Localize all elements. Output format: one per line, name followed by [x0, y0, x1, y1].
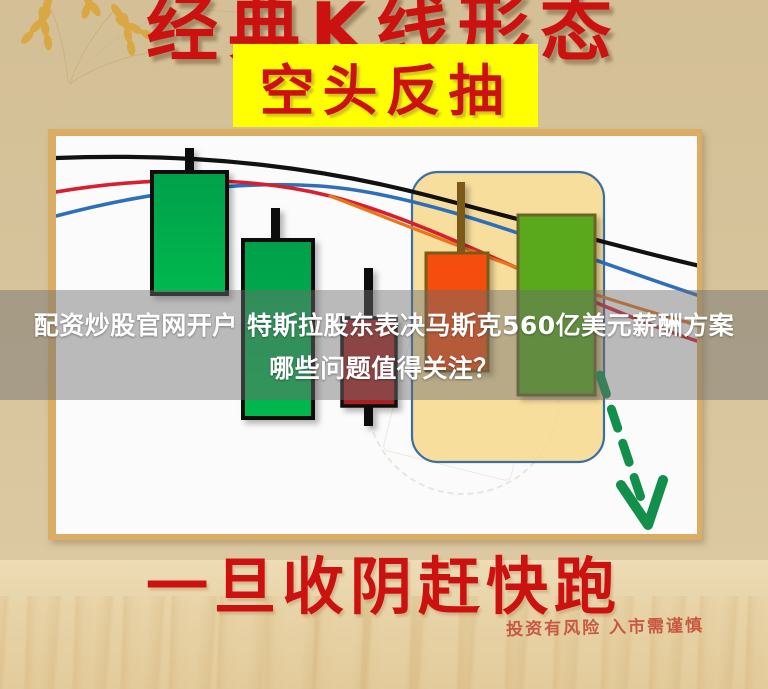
overlay-caption-line2: 哪些问题值得关注？	[269, 347, 499, 390]
overlay-caption: 配资炒股官网开户 特斯拉股东表决马斯克560亿美元薪酬方案 哪些问题值得关注？	[0, 294, 768, 400]
poster-root: 经典K线形态 空头反抽	[0, 0, 768, 689]
overlay-caption-line1: 配资炒股官网开户 特斯拉股东表决马斯克560亿美元薪酬方案	[34, 304, 734, 347]
candle-1	[152, 148, 227, 294]
risk-disclaimer: 投资有风险 入市需谨慎	[490, 611, 720, 641]
